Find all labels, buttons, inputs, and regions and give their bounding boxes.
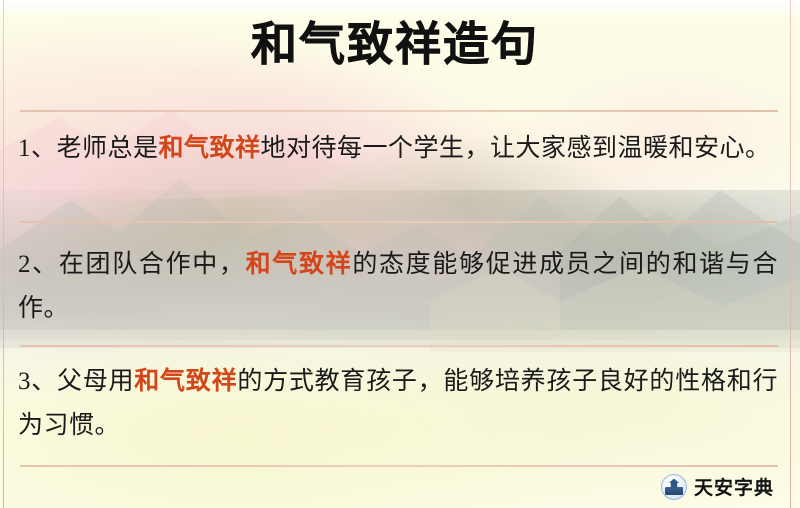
sentence-item-3: 3、父母用和气致祥的方式教育孩子，能够培养孩子良好的性格和行为习惯。 bbox=[18, 360, 778, 448]
sentence-number-1: 1、 bbox=[18, 135, 57, 162]
footer-brand: 天安字典 bbox=[661, 473, 774, 500]
content-area: 和气致祥造句 1、老师总是和气致祥地对待每一个学生，让大家感到温暖和安心。 2、… bbox=[0, 0, 800, 508]
circular-seal-logo-icon bbox=[661, 474, 687, 500]
sentence-card-page: 和气致祥造句 1、老师总是和气致祥地对待每一个学生，让大家感到温暖和安心。 2、… bbox=[0, 0, 800, 508]
sentence-before-2: 在团队合作中， bbox=[59, 251, 246, 278]
page-title: 和气致祥造句 bbox=[0, 16, 790, 74]
sentence-number-2: 2、 bbox=[18, 251, 59, 278]
divider-bottom bbox=[20, 465, 778, 467]
sentence-before-3: 父母用 bbox=[57, 368, 134, 395]
sentence-number-3: 3、 bbox=[18, 368, 57, 395]
brand-name-label: 天安字典 bbox=[694, 473, 774, 500]
divider-1 bbox=[20, 221, 778, 223]
divider-top bbox=[20, 110, 778, 112]
sentence-after-1: 地对待每一个学生，让大家感到温暖和安心。 bbox=[261, 135, 771, 162]
sentence-item-1: 1、老师总是和气致祥地对待每一个学生，让大家感到温暖和安心。 bbox=[18, 127, 778, 171]
keyword-highlight-1: 和气致祥 bbox=[159, 135, 261, 162]
sentence-before-1: 老师总是 bbox=[57, 135, 159, 162]
keyword-highlight-3: 和气致祥 bbox=[134, 368, 237, 395]
sentence-item-2: 2、在团队合作中，和气致祥的态度能够促进成员之间的和谐与合作。 bbox=[18, 243, 778, 331]
keyword-highlight-2: 和气致祥 bbox=[246, 251, 353, 278]
divider-2 bbox=[20, 345, 778, 347]
